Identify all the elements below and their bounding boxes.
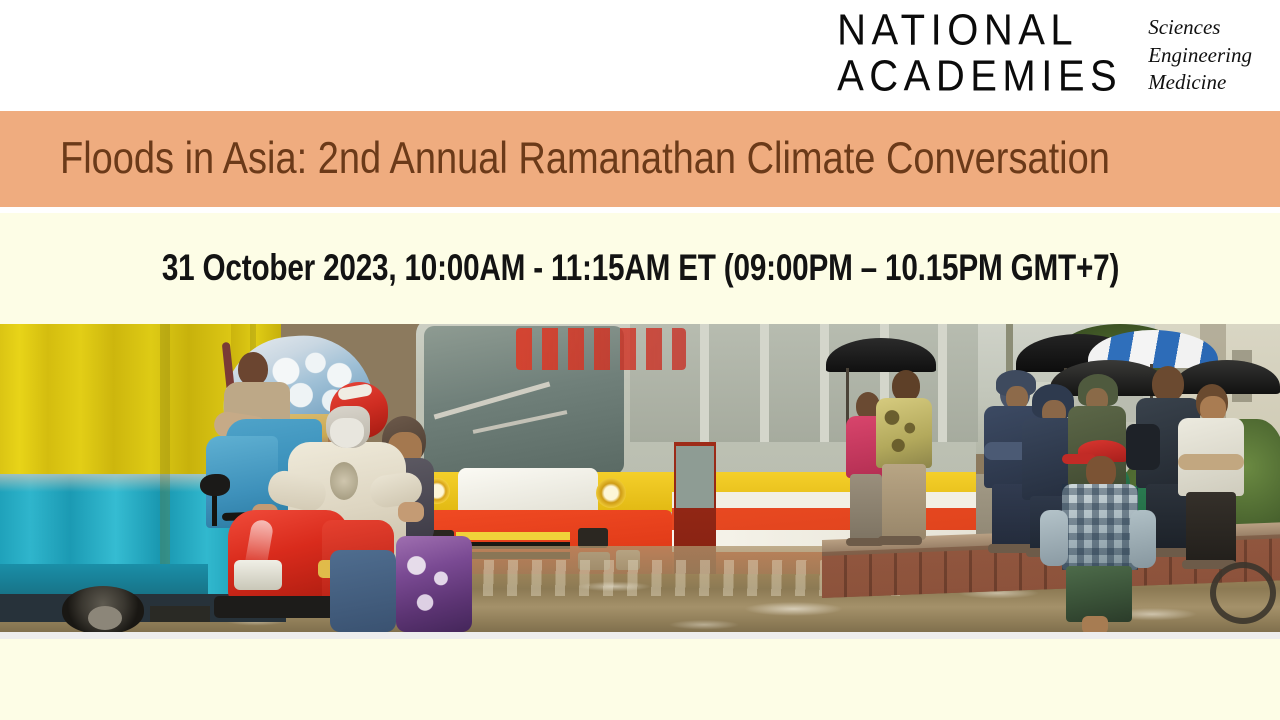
photo-rider-pendant <box>330 462 358 500</box>
photo-pillion-skirt-pattern <box>400 544 466 630</box>
event-datetime-strip: 31 October 2023, 10:00AM - 11:15AM ET (0… <box>0 213 1280 324</box>
page-title: Floods in Asia: 2nd Annual Ramanathan Cl… <box>0 134 1110 185</box>
logo-subtitle: Sciences Engineering Medicine <box>1148 10 1252 97</box>
event-datetime: 31 October 2023, 10:00AM - 11:15AM ET (0… <box>161 248 1118 289</box>
photo-rider-hand <box>398 502 424 522</box>
page-header: NATIONAL ACADEMIES Sciences Engineering … <box>0 0 1280 111</box>
photo-motorcycle-headlight <box>234 560 282 590</box>
national-academies-logo: NATIONAL ACADEMIES Sciences Engineering … <box>837 10 1252 97</box>
title-banner: Floods in Asia: 2nd Annual Ramanathan Cl… <box>0 111 1280 207</box>
photo-bus-grille <box>456 532 570 540</box>
photo-rider-face-mask <box>330 418 364 448</box>
logo-subtitle-engineering: Engineering <box>1148 42 1252 70</box>
logo-subtitle-sciences: Sciences <box>1148 14 1252 42</box>
logo-line-academies: ACADEMIES <box>837 56 1122 98</box>
photo-bus-signage <box>516 328 686 370</box>
logo-wordmark: NATIONAL ACADEMIES <box>837 10 1122 95</box>
photo-truck-step <box>150 606 210 622</box>
photo-truck-panel-edge <box>160 324 170 602</box>
photo-bus-mullion <box>760 324 769 442</box>
logo-subtitle-medicine: Medicine <box>1148 69 1252 97</box>
photo-bus-mullion <box>820 324 829 442</box>
photo-bicycle-wheel <box>1210 562 1276 624</box>
photo-motorcycle-mirror-stem <box>212 492 217 526</box>
photo-bus-door-window <box>676 446 714 508</box>
photo-truck-upper <box>0 324 231 476</box>
photo-bus-emblem <box>596 478 626 508</box>
photo-rickshaw-passenger-head <box>238 352 268 386</box>
photo-bus-mullion <box>700 324 709 442</box>
photo-bus-hood <box>458 468 598 514</box>
photo-bus-lamp <box>578 528 608 548</box>
page-footer-area <box>0 639 1280 720</box>
photo-truck-hubcap <box>88 606 122 630</box>
photo-bottom-divider <box>0 632 1280 639</box>
photo-bus-stripe <box>672 492 976 508</box>
photo-motorcycle-mirror <box>200 474 230 496</box>
logo-line-national: NATIONAL <box>837 10 1078 52</box>
photo-motorcycle-bumper <box>214 596 344 618</box>
photo-rider-leg <box>330 550 396 632</box>
flood-photo <box>0 324 1280 632</box>
photo-bus-mullion <box>938 324 947 442</box>
